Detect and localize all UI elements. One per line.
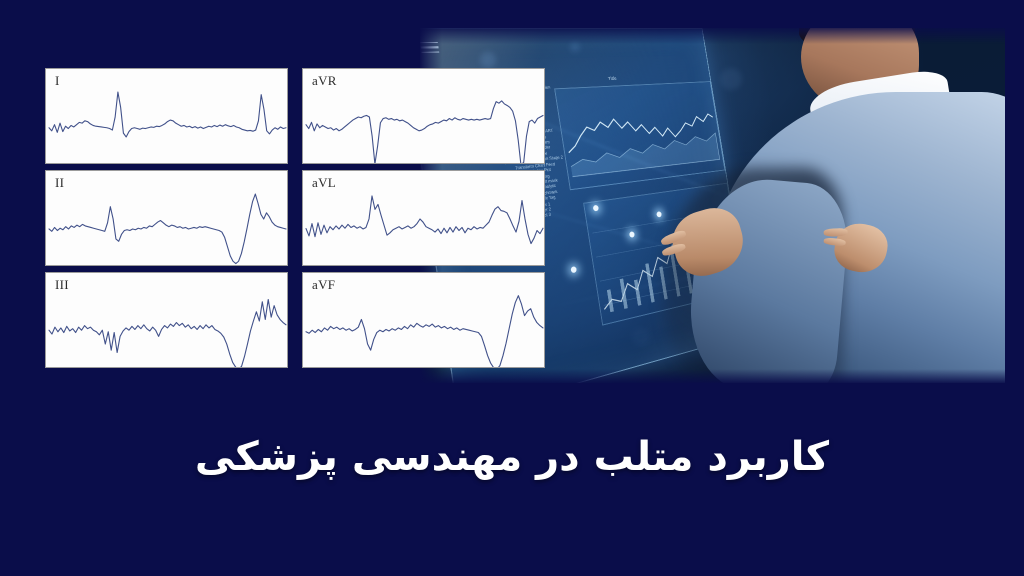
ecg-trace-ii [46,171,288,266]
slide-canvas: PAID SOLUTIONS Title Pilot Business Impl… [0,0,1024,576]
ecg-panel-avl: aVL [302,170,545,266]
ecg-trace-iii [46,273,288,368]
businessman [711,28,1005,383]
ecg-chart-grid: IaVRIIaVLIIIaVF [45,68,545,368]
hamburger-menu-icon[interactable] [420,42,439,54]
ecg-panel-iii: III [45,272,288,368]
glass-chart-title: Title [608,76,618,82]
glass-sparkline-top [562,98,720,177]
ecg-panel-ii: II [45,170,288,266]
ecg-trace-avl [303,171,545,266]
ecg-panel-avf: aVF [302,272,545,368]
ecg-panel-i: I [45,68,288,164]
ecg-trace-avr [303,69,545,164]
ecg-trace-i [46,69,288,164]
page-title: کاربرد متلب در مهندسی پزشکی [0,432,1024,482]
ecg-panel-avr: aVR [302,68,545,164]
ecg-trace-avf [303,273,545,368]
